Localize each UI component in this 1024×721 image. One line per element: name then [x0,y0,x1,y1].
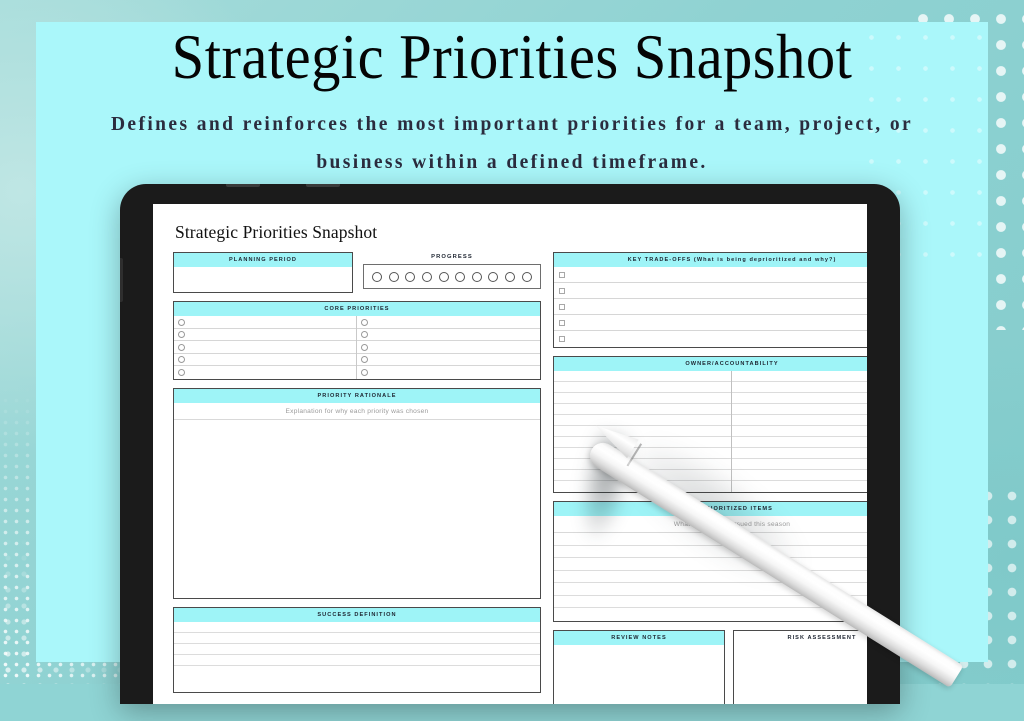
checkbox-icon[interactable] [559,304,565,310]
table-row[interactable] [554,426,731,437]
table-row[interactable] [732,393,867,404]
progress-dot[interactable] [405,272,415,282]
table-row[interactable] [732,426,867,437]
table-row[interactable] [554,470,731,481]
checkbox-icon[interactable] [559,336,565,342]
page-subtitle: Defines and reinforces the most importan… [92,106,932,182]
list-item[interactable] [554,331,867,347]
progress-dot[interactable] [472,272,482,282]
deprioritized-items-card: DEPRIORITIZED ITEMS What will not be pur… [553,501,867,622]
circle-bullet-icon[interactable] [361,369,368,376]
success-definition-input[interactable] [174,622,540,692]
owner-column-right [732,371,867,492]
list-item[interactable] [357,329,540,342]
checkbox-icon[interactable] [559,320,565,326]
core-priorities-grid [174,316,540,379]
table-row[interactable] [732,382,867,393]
deprioritized-items-list [554,533,867,621]
list-item[interactable] [174,354,356,367]
ruled-line[interactable] [554,608,867,621]
document-title: Strategic Priorities Snapshot [175,222,847,243]
review-notes-header: REVIEW NOTES [554,631,724,645]
list-item[interactable] [174,341,356,354]
circle-bullet-icon[interactable] [178,344,185,351]
volume-up-button[interactable] [226,184,260,187]
circle-bullet-icon[interactable] [178,356,185,363]
priority-rationale-header: PRIORITY RATIONALE [174,389,540,403]
progress-block: PROGRESS [363,252,541,289]
list-item[interactable] [357,316,540,329]
deprioritized-items-placeholder: What will not be pursued this season [554,516,867,533]
circle-bullet-icon[interactable] [178,331,185,338]
ruled-line[interactable] [174,655,540,666]
document-columns: PLANNING PERIOD PROGRESS [173,252,847,704]
power-button[interactable] [120,258,123,302]
list-item[interactable] [554,283,867,299]
list-item[interactable] [357,354,540,367]
ruled-line[interactable] [554,558,867,571]
deprioritized-items-header: DEPRIORITIZED ITEMS [554,502,867,516]
table-row[interactable] [732,415,867,426]
progress-dot[interactable] [422,272,432,282]
planner-document: Strategic Priorities Snapshot PLANNING P… [153,204,867,704]
table-row[interactable] [732,459,867,470]
table-row[interactable] [554,481,731,492]
owner-accountability-header: OWNER/ACCOUNTABILITY [554,357,867,371]
table-row[interactable] [732,470,867,481]
circle-bullet-icon[interactable] [361,331,368,338]
circle-bullet-icon[interactable] [361,344,368,351]
table-row[interactable] [554,393,731,404]
list-item[interactable] [174,329,356,342]
planning-period-card[interactable]: PLANNING PERIOD [173,252,353,293]
planning-period-input[interactable] [174,267,352,292]
table-row[interactable] [732,404,867,415]
progress-dot[interactable] [439,272,449,282]
table-row[interactable] [554,448,731,459]
risk-assessment-card: RISK ASSESSMENT [733,630,867,704]
review-notes-input[interactable] [554,645,724,704]
priority-rationale-placeholder: Explanation for why each priority was ch… [174,403,540,420]
risk-assessment-header: RISK ASSESSMENT [734,631,867,645]
tablet-device: Strategic Priorities Snapshot PLANNING P… [120,184,900,704]
progress-dot[interactable] [522,272,532,282]
progress-dot[interactable] [488,272,498,282]
ruled-line[interactable] [554,571,867,584]
planning-period-header: PLANNING PERIOD [174,253,352,267]
checkbox-icon[interactable] [559,288,565,294]
table-row[interactable] [732,371,867,382]
circle-bullet-icon[interactable] [361,319,368,326]
table-row[interactable] [554,371,731,382]
core-priorities-card: CORE PRIORITIES [173,301,541,380]
table-row[interactable] [732,481,867,492]
checkbox-icon[interactable] [559,272,565,278]
right-column: KEY TRADE-OFFS (What is being deprioriti… [553,252,867,704]
progress-dot[interactable] [389,272,399,282]
ruled-line[interactable] [174,666,540,677]
table-row[interactable] [554,382,731,393]
success-definition-header: SUCCESS DEFINITION [174,608,540,622]
priority-rationale-card: PRIORITY RATIONALE Explanation for why e… [173,388,541,599]
owner-accountability-table [554,371,867,492]
list-item[interactable] [554,267,867,283]
list-item[interactable] [554,315,867,331]
key-trade-offs-card: KEY TRADE-OFFS (What is being deprioriti… [553,252,867,348]
owner-column-left [554,371,732,492]
left-column: PLANNING PERIOD PROGRESS [173,252,541,701]
table-row[interactable] [554,459,731,470]
ruled-line[interactable] [554,596,867,609]
volume-down-button[interactable] [306,184,340,187]
progress-dot[interactable] [455,272,465,282]
progress-dot[interactable] [505,272,515,282]
list-item[interactable] [174,366,356,379]
progress-label: PROGRESS [363,254,541,260]
circle-bullet-icon[interactable] [361,356,368,363]
circle-bullet-icon[interactable] [178,319,185,326]
circle-bullet-icon[interactable] [178,369,185,376]
table-row[interactable] [732,437,867,448]
table-row[interactable] [732,448,867,459]
ruled-line[interactable] [554,583,867,596]
ruled-line[interactable] [554,533,867,546]
progress-dot[interactable] [372,272,382,282]
core-priorities-column-left [174,316,357,379]
table-row[interactable] [554,415,731,426]
core-priorities-header: CORE PRIORITIES [174,302,540,316]
review-notes-card: REVIEW NOTES [553,630,725,704]
risk-assessment-input[interactable] [734,645,867,704]
ruled-line[interactable] [554,546,867,559]
key-trade-offs-header: KEY TRADE-OFFS (What is being deprioriti… [554,253,867,267]
progress-tracker[interactable] [363,264,541,289]
list-item[interactable] [357,366,540,379]
table-row[interactable] [554,404,731,415]
key-trade-offs-list [554,267,867,347]
owner-accountability-card: OWNER/ACCOUNTABILITY [553,356,867,493]
tablet-screen: Strategic Priorities Snapshot PLANNING P… [153,204,867,704]
list-item[interactable] [357,341,540,354]
list-item[interactable] [174,316,356,329]
top-row: PLANNING PERIOD PROGRESS [173,252,541,301]
priority-rationale-input[interactable] [174,420,540,598]
ruled-line[interactable] [174,622,540,633]
bottom-row: REVIEW NOTES RISK ASSESSMENT [553,630,867,704]
ruled-line[interactable] [174,633,540,644]
core-priorities-column-right [357,316,540,379]
table-row[interactable] [554,437,731,448]
page-title: Strategic Priorities Snapshot [36,24,988,91]
list-item[interactable] [554,299,867,315]
success-definition-card: SUCCESS DEFINITION [173,607,541,693]
ruled-line[interactable] [174,644,540,655]
